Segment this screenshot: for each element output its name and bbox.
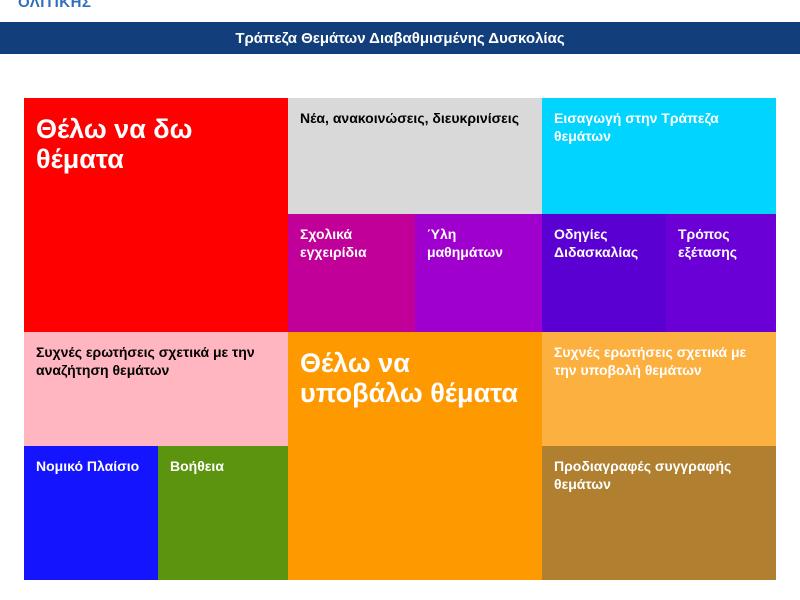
tile-faq-submit-label: Συχνές ερωτήσεις σχετικά με την υποβολή … [554, 344, 764, 379]
tile-see-topics[interactable]: Θέλω να δω θέματα [24, 98, 288, 332]
tile-help[interactable]: Βοήθεια [158, 446, 288, 580]
tile-submit-topics-label: Θέλω να υποβάλω θέματα [300, 348, 530, 408]
tile-course-material-label: Ύλη μαθημάτων [427, 226, 530, 261]
tile-school-books-label: Σχολικά εγχειρίδια [300, 226, 403, 261]
tile-teaching-instructions-label: Οδηγίες Διδασκαλίας [554, 226, 654, 261]
tile-school-books[interactable]: Σχολικά εγχειρίδια [288, 214, 415, 332]
tile-faq-submit[interactable]: Συχνές ερωτήσεις σχετικά με την υποβολή … [542, 332, 776, 446]
tile-news[interactable]: Νέα, ανακοινώσεις, διευκρινίσεις [288, 98, 542, 214]
tile-teaching-instructions[interactable]: Οδηγίες Διδασκαλίας [542, 214, 666, 332]
tile-intro[interactable]: Εισαγωγή στην Τράπεζα θεμάτων [542, 98, 776, 214]
tile-faq-search-label: Συχνές ερωτήσεις σχετικά με την αναζήτησ… [36, 344, 276, 379]
tile-news-label: Νέα, ανακοινώσεις, διευκρινίσεις [300, 110, 530, 128]
page-header-bar: Τράπεζα Θεμάτων Διαβαθμισμένης Δυσκολίας [0, 22, 800, 54]
tile-faq-search[interactable]: Συχνές ερωτήσεις σχετικά με την αναζήτησ… [24, 332, 288, 446]
page-title: Τράπεζα Θεμάτων Διαβαθμισμένης Δυσκολίας [235, 31, 564, 46]
tile-authoring-specs-label: Προδιαγραφές συγγραφής θεμάτων [554, 458, 764, 493]
top-clipped-heading: ΟΛΙΤΙΚΗΣ [18, 0, 91, 10]
tile-exam-method-label: Τρόπος εξέτασης [678, 226, 764, 261]
tile-help-label: Βοήθεια [170, 458, 276, 476]
tile-submit-topics[interactable]: Θέλω να υποβάλω θέματα [288, 332, 542, 580]
tile-legal-framework[interactable]: Νομικό Πλαίσιο [24, 446, 158, 580]
tile-intro-label: Εισαγωγή στην Τράπεζα θεμάτων [554, 110, 764, 145]
tile-legal-framework-label: Νομικό Πλαίσιο [36, 458, 146, 476]
tile-grid: Θέλω να δω θέματα Νέα, ανακοινώσεις, διε… [24, 98, 776, 580]
tile-see-topics-label: Θέλω να δω θέματα [36, 114, 276, 174]
tile-course-material[interactable]: Ύλη μαθημάτων [415, 214, 542, 332]
tile-authoring-specs[interactable]: Προδιαγραφές συγγραφής θεμάτων [542, 446, 776, 580]
tile-exam-method[interactable]: Τρόπος εξέτασης [666, 214, 776, 332]
